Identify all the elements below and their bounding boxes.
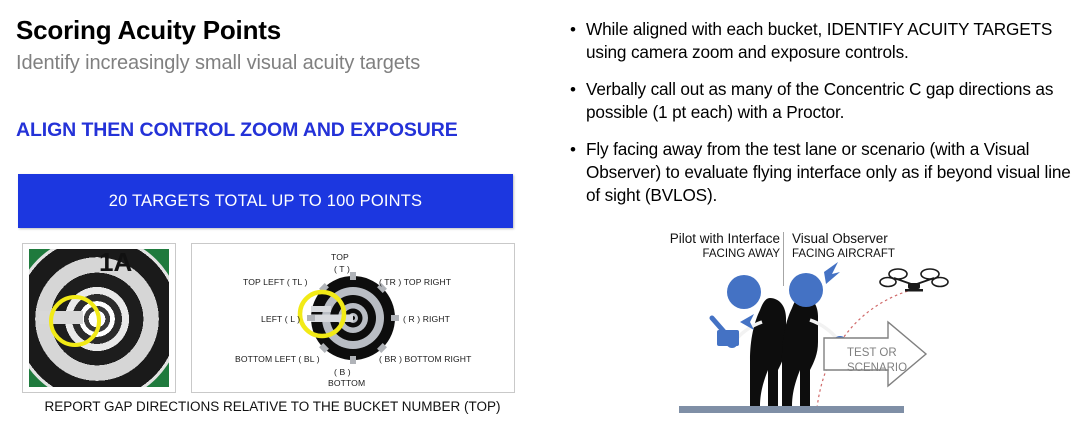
- diagram-label-top-abbr: ( T ): [334, 264, 350, 274]
- bullet-text: Fly facing away from the test lane or sc…: [586, 138, 1089, 207]
- list-item: • While aligned with each bucket, IDENTI…: [556, 18, 1089, 64]
- diagram-label-left: LEFT ( L ): [261, 314, 300, 324]
- target-diagram-svg: [192, 244, 514, 392]
- points-banner: 20 TARGETS TOTAL UP TO 100 POINTS: [18, 174, 513, 228]
- points-banner-label: 20 TARGETS TOTAL UP TO 100 POINTS: [109, 192, 423, 211]
- bucket-photo-image: 1A: [29, 249, 169, 387]
- diagram-label-top: TOP: [331, 252, 349, 262]
- right-column: • While aligned with each bucket, IDENTI…: [556, 0, 1089, 442]
- page-title: Scoring Acuity Points: [16, 17, 281, 44]
- arrow-label-line2: SCENARIO: [847, 361, 933, 376]
- diagram-label-bottom-abbr: ( B ): [334, 367, 351, 377]
- page-subtitle: Identify increasingly small visual acuit…: [16, 52, 420, 74]
- section-headline: ALIGN THEN CONTROL ZOOM AND EXPOSURE: [16, 119, 458, 142]
- bucket-number-label: 1A: [99, 249, 132, 278]
- figure-illustration-svg: [574, 230, 1089, 440]
- bullet-marker-icon: •: [556, 78, 586, 124]
- diagram-label-bottom-left: BOTTOM LEFT ( BL ): [235, 354, 320, 364]
- diagram-label-bottom-right: ( BR ) BOTTOM RIGHT: [379, 354, 471, 364]
- list-item: • Verbally call out as many of the Conce…: [556, 78, 1089, 124]
- arrow-label: TEST OR SCENARIO: [847, 346, 933, 376]
- left-column: Scoring Acuity Points Identify increasin…: [0, 0, 545, 442]
- bucket-photo: 1A: [22, 243, 176, 393]
- ground-bar: [679, 406, 904, 413]
- bullet-marker-icon: •: [556, 18, 586, 64]
- pilot-figure: [712, 275, 786, 406]
- diagram-label-top-right: ( TR ) TOP RIGHT: [379, 277, 451, 287]
- bullet-text: Verbally call out as many of the Concent…: [586, 78, 1089, 124]
- diagram-label-top-left: TOP LEFT ( TL ): [243, 277, 308, 287]
- diagram-caption: REPORT GAP DIRECTIONS RELATIVE TO THE BU…: [0, 399, 545, 414]
- observer-figure: [782, 262, 847, 406]
- slide-root: Scoring Acuity Points Identify increasin…: [0, 0, 1089, 442]
- diagram-label-bottom: BOTTOM: [328, 378, 365, 388]
- drone-icon: [880, 269, 948, 292]
- bvlos-figure: Pilot with Interface FACING AWAY Visual …: [574, 230, 1089, 440]
- bullet-text: While aligned with each bucket, IDENTIFY…: [586, 18, 1089, 64]
- gap-highlight-circle: [49, 295, 101, 347]
- arrow-label-line1: TEST OR: [847, 346, 933, 361]
- diagram-label-right: ( R ) RIGHT: [403, 314, 450, 324]
- gap-direction-diagram: TOP ( T ) TOP LEFT ( TL ) ( TR ) TOP RIG…: [191, 243, 515, 393]
- bullet-list: • While aligned with each bucket, IDENTI…: [556, 18, 1089, 221]
- list-item: • Fly facing away from the test lane or …: [556, 138, 1089, 207]
- bullet-marker-icon: •: [556, 138, 586, 207]
